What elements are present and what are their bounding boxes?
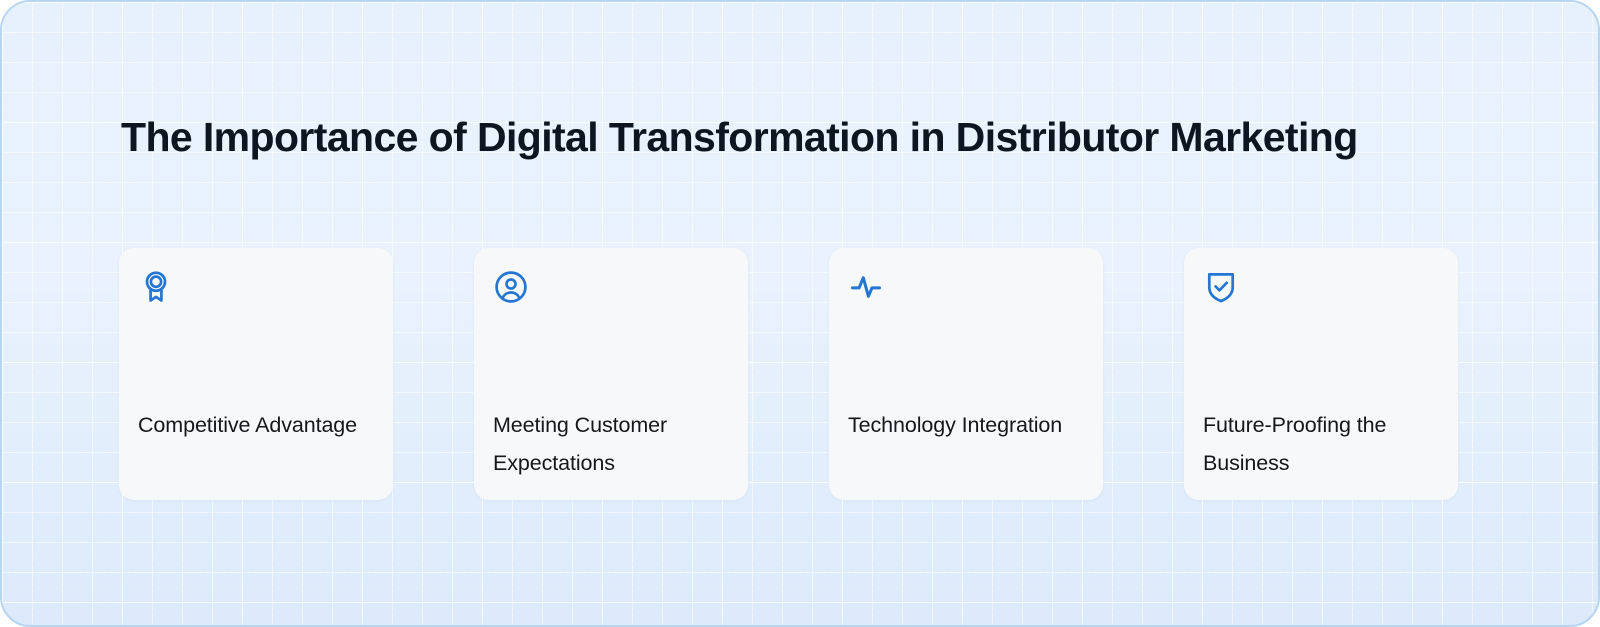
shield-check-icon bbox=[1203, 269, 1239, 305]
user-circle-icon bbox=[493, 269, 529, 305]
page-title: The Importance of Digital Transformation… bbox=[121, 114, 1481, 161]
activity-pulse-icon bbox=[848, 269, 884, 305]
infographic-panel: The Importance of Digital Transformation… bbox=[0, 0, 1600, 627]
feature-card-label: Competitive Advantage bbox=[138, 406, 377, 444]
feature-card-label: Meeting Customer Expectations bbox=[493, 406, 732, 482]
feature-card-meeting-customer-expectations[interactable]: Meeting Customer Expectations bbox=[474, 248, 748, 500]
feature-card-competitive-advantage[interactable]: Competitive Advantage bbox=[119, 248, 393, 500]
feature-card-label: Future-Proofing the Business bbox=[1203, 406, 1442, 482]
award-medal-icon bbox=[138, 269, 174, 305]
feature-card-future-proofing-the-business[interactable]: Future-Proofing the Business bbox=[1184, 248, 1458, 500]
feature-card-label: Technology Integration bbox=[848, 406, 1087, 444]
feature-card-technology-integration[interactable]: Technology Integration bbox=[829, 248, 1103, 500]
feature-cards-row: Competitive Advantage Meeting Customer E… bbox=[119, 248, 1458, 500]
